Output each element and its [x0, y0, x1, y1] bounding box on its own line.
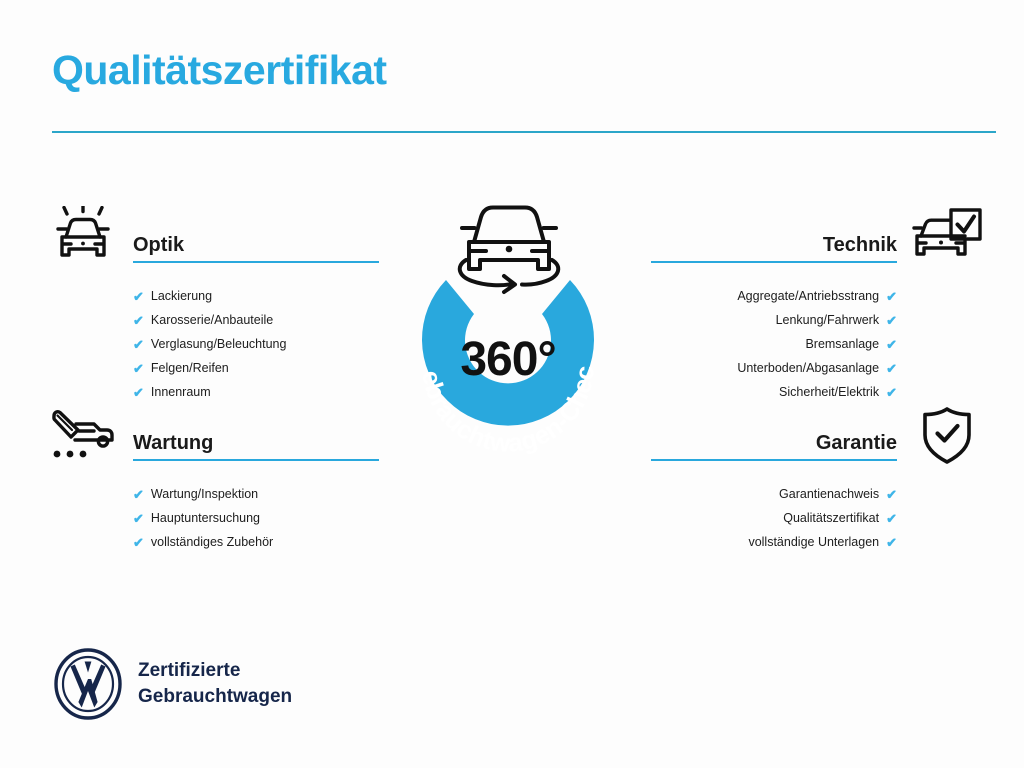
- list-item: Sicherheit/Elektrik✔: [651, 380, 897, 404]
- car-shine-icon: [45, 206, 121, 268]
- section-list-wartung: ✔Wartung/Inspektion ✔Hauptuntersuchung ✔…: [133, 482, 379, 554]
- list-item-label: vollständige Unterlagen: [748, 530, 879, 554]
- section-header-wartung: Wartung: [133, 432, 379, 466]
- list-item: Aggregate/Antriebsstrang✔: [651, 284, 897, 308]
- section-list-garantie: Garantienachweis✔ Qualitätszertifikat✔ v…: [651, 482, 897, 554]
- list-item-label: Karosserie/Anbauteile: [151, 308, 273, 332]
- section-title: Technik: [651, 234, 897, 256]
- check-icon: ✔: [133, 512, 144, 525]
- list-item-label: Verglasung/Beleuchtung: [151, 332, 287, 356]
- check-icon: ✔: [133, 338, 144, 351]
- check-icon: ✔: [886, 386, 897, 399]
- list-item-label: Lackierung: [151, 284, 212, 308]
- wrench-car-icon: [45, 404, 121, 466]
- list-item-label: Hauptuntersuchung: [151, 506, 260, 530]
- shield-check-icon: [909, 404, 985, 466]
- check-icon: ✔: [133, 290, 144, 303]
- car-checkbox-icon: [909, 206, 985, 268]
- check-icon: ✔: [886, 536, 897, 549]
- badge-360-check: Gebrauchtwagen-Check 360°: [384, 196, 634, 486]
- list-item-label: Unterboden/Abgasanlage: [737, 356, 879, 380]
- section-underline: [651, 261, 897, 263]
- brand-lockup: Zertifizierte Gebrauchtwagen: [52, 648, 292, 720]
- check-icon: ✔: [886, 314, 897, 327]
- check-icon: ✔: [886, 488, 897, 501]
- list-item-label: Felgen/Reifen: [151, 356, 229, 380]
- list-item-label: Innenraum: [151, 380, 211, 404]
- check-icon: ✔: [886, 338, 897, 351]
- list-item: ✔Lackierung: [133, 284, 379, 308]
- list-item: ✔Karosserie/Anbauteile: [133, 308, 379, 332]
- list-item-label: Wartung/Inspektion: [151, 482, 258, 506]
- vw-logo-icon: [52, 648, 124, 720]
- check-icon: ✔: [133, 536, 144, 549]
- list-item-label: Aggregate/Antriebsstrang: [737, 284, 879, 308]
- list-item-label: Bremsanlage: [805, 332, 879, 356]
- section-underline: [651, 459, 897, 461]
- check-icon: ✔: [133, 362, 144, 375]
- list-item: Bremsanlage✔: [651, 332, 897, 356]
- list-item-label: vollständiges Zubehör: [151, 530, 273, 554]
- list-item-label: Sicherheit/Elektrik: [779, 380, 879, 404]
- list-item: ✔Felgen/Reifen: [133, 356, 379, 380]
- car-rotate-360-icon: [442, 196, 576, 300]
- list-item: ✔Innenraum: [133, 380, 379, 404]
- check-icon: ✔: [886, 362, 897, 375]
- section-list-optik: ✔Lackierung ✔Karosserie/Anbauteile ✔Verg…: [133, 284, 379, 404]
- list-item: ✔Hauptuntersuchung: [133, 506, 379, 530]
- check-icon: ✔: [133, 386, 144, 399]
- list-item: Unterboden/Abgasanlage✔: [651, 356, 897, 380]
- brand-text: Zertifizierte Gebrauchtwagen: [138, 658, 292, 710]
- list-item: ✔vollständiges Zubehör: [133, 530, 379, 554]
- list-item: Garantienachweis✔: [651, 482, 897, 506]
- list-item: vollständige Unterlagen✔: [651, 530, 897, 554]
- check-icon: ✔: [886, 512, 897, 525]
- section-header-technik: Technik: [651, 234, 897, 268]
- section-underline: [133, 261, 379, 263]
- brand-line-2: Gebrauchtwagen: [138, 684, 292, 710]
- list-item: Lenkung/Fahrwerk✔: [651, 308, 897, 332]
- list-item: ✔Verglasung/Beleuchtung: [133, 332, 379, 356]
- list-item: ✔Wartung/Inspektion: [133, 482, 379, 506]
- header-divider: [52, 131, 996, 133]
- page-title: Qualitätszertifikat: [52, 50, 387, 91]
- certificate-page: Qualitätszertifikat Optik ✔Lackierung ✔K…: [0, 0, 1024, 768]
- section-title: Garantie: [651, 432, 897, 454]
- check-icon: ✔: [886, 290, 897, 303]
- list-item-label: Garantienachweis: [779, 482, 879, 506]
- list-item-label: Lenkung/Fahrwerk: [776, 308, 880, 332]
- brand-line-1: Zertifizierte: [138, 658, 292, 684]
- section-header-optik: Optik: [133, 234, 379, 268]
- section-title: Optik: [133, 234, 379, 256]
- list-item-label: Qualitätszertifikat: [783, 506, 879, 530]
- section-underline: [133, 459, 379, 461]
- section-title: Wartung: [133, 432, 379, 454]
- section-header-garantie: Garantie: [651, 432, 897, 466]
- section-list-technik: Aggregate/Antriebsstrang✔ Lenkung/Fahrwe…: [651, 284, 897, 404]
- check-icon: ✔: [133, 488, 144, 501]
- list-item: Qualitätszertifikat✔: [651, 506, 897, 530]
- check-icon: ✔: [133, 314, 144, 327]
